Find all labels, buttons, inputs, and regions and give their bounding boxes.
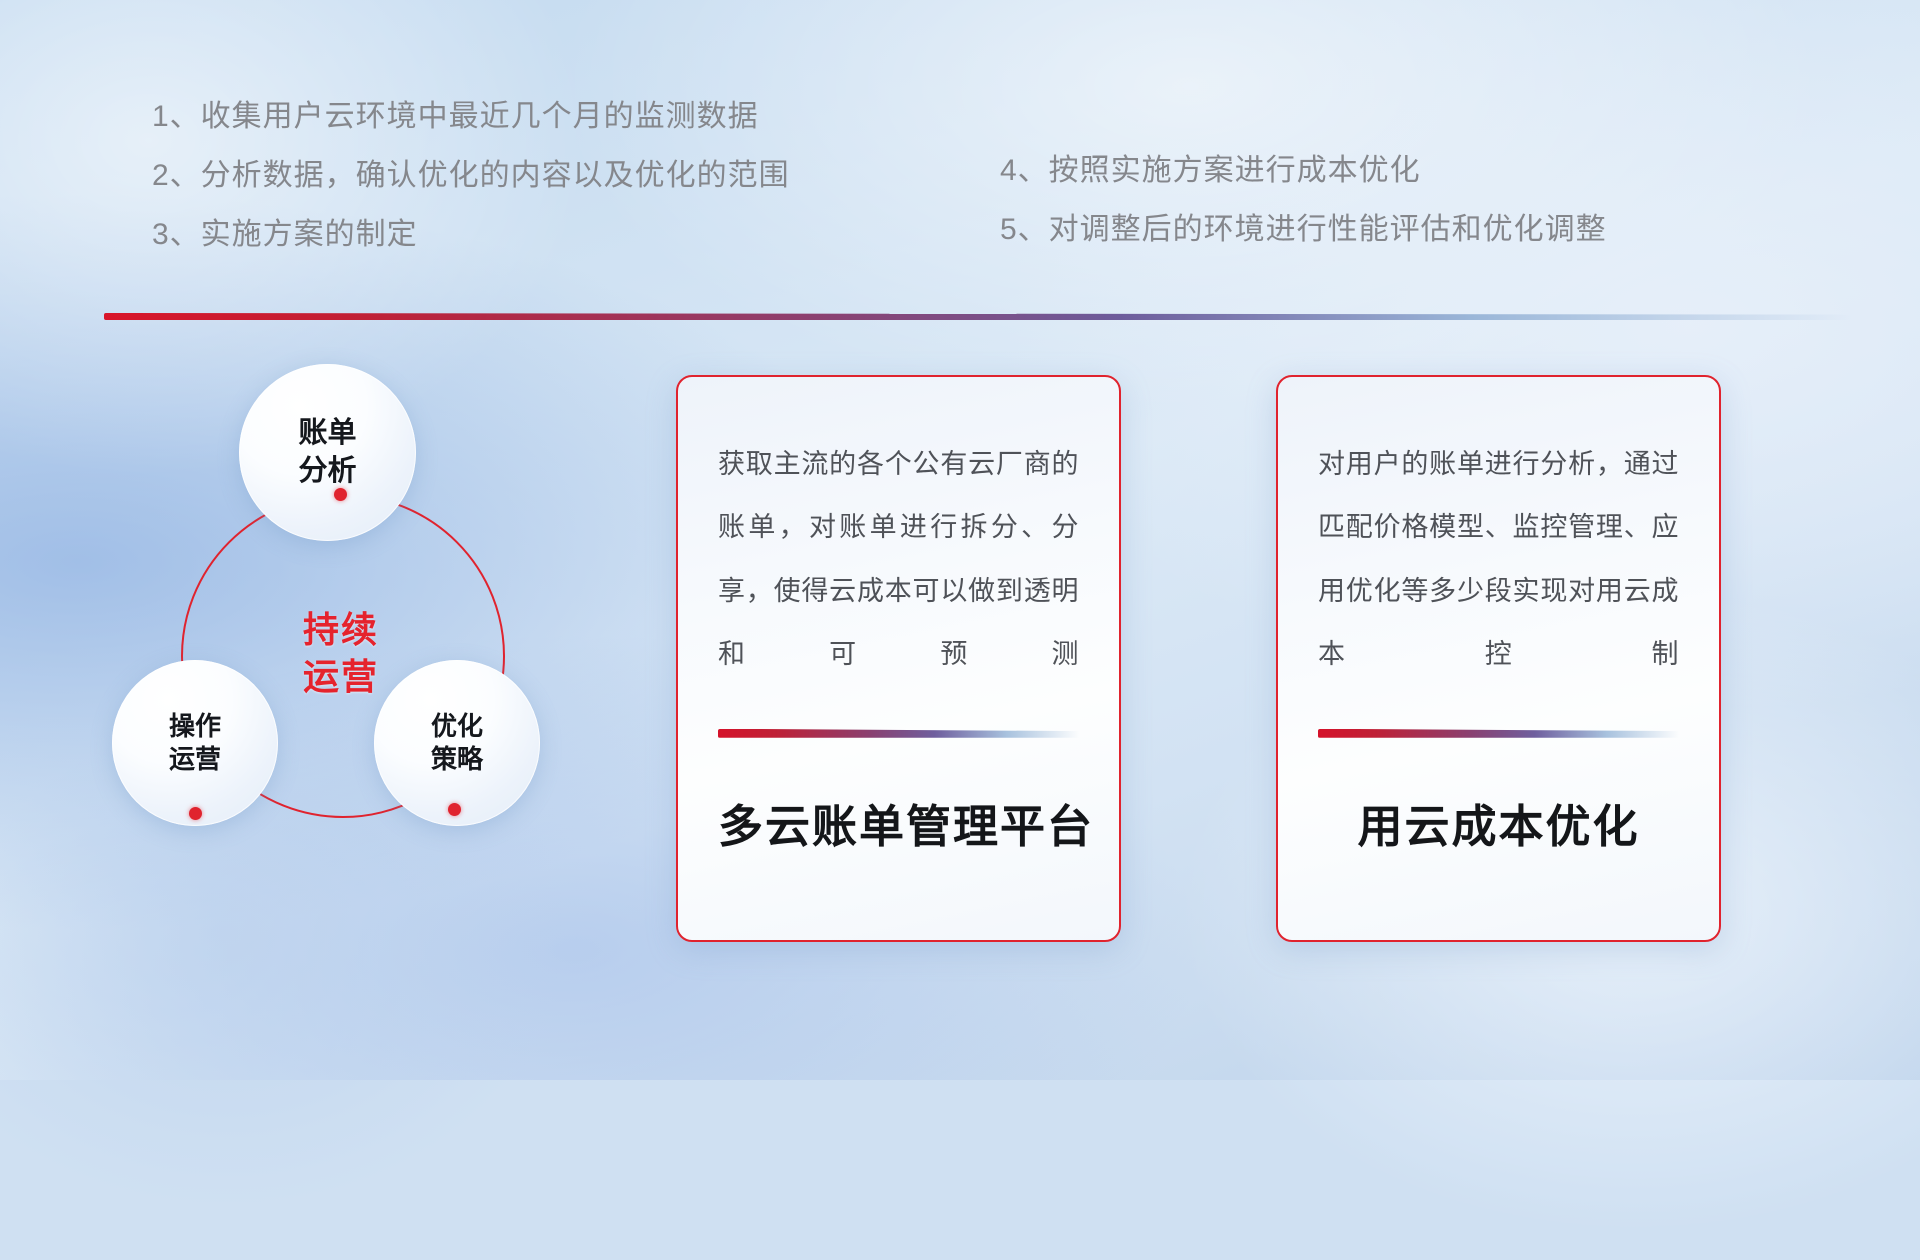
venn-node-dot-bottom-right [448, 803, 461, 816]
venn-node-dot-top [334, 488, 347, 501]
step-item-3: 3、实施方案的制定 [152, 220, 790, 250]
step-item-2: 2、分析数据，确认优化的内容以及优化的范围 [152, 161, 790, 191]
venn-bubble-bill-analysis-line1: 账单 [298, 415, 356, 452]
card-body-text: 获取主流的各个公有云厂商的账单，对账单进行拆分、分享，使得云成本可以做到透明和可… [718, 433, 1079, 687]
step-item-1: 1、收集用户云环境中最近几个月的监测数据 [152, 102, 790, 132]
card-divider-rule [718, 729, 1079, 738]
card-body-text: 对用户的账单进行分析，通过匹配价格模型、监控管理、应用优化等多少段实现对用云成本… [1318, 433, 1679, 687]
venn-diagram: 账单 分析 操作 运营 优化 策略 持续 运营 [100, 350, 660, 950]
steps-list-right: 4、按照实施方案进行成本优化 5、对调整后的环境进行性能评估和优化调整 [1000, 156, 1607, 274]
venn-center-label-line1: 持续 [303, 607, 379, 654]
card-title: 用云成本优化 [1318, 790, 1679, 855]
venn-center-label-line2: 运营 [303, 654, 379, 701]
section-divider-rule [104, 313, 1856, 320]
venn-bubble-bill-analysis-line2: 分析 [298, 453, 356, 490]
venn-center-label: 持续 运营 [181, 494, 501, 814]
steps-list-left: 1、收集用户云环境中最近几个月的监测数据 2、分析数据，确认优化的内容以及优化的… [152, 102, 790, 279]
venn-node-dot-bottom-left [189, 807, 202, 820]
card-title: 多云账单管理平台 [718, 790, 1079, 855]
card-multicloud-billing-platform[interactable]: 获取主流的各个公有云厂商的账单，对账单进行拆分、分享，使得云成本可以做到透明和可… [676, 375, 1121, 942]
card-divider-rule [1318, 729, 1679, 738]
slide-background: 1、收集用户云环境中最近几个月的监测数据 2、分析数据，确认优化的内容以及优化的… [0, 0, 1920, 1080]
step-item-5: 5、对调整后的环境进行性能评估和优化调整 [1000, 215, 1607, 245]
card-cloud-cost-optimization[interactable]: 对用户的账单进行分析，通过匹配价格模型、监控管理、应用优化等多少段实现对用云成本… [1276, 375, 1721, 942]
step-item-4: 4、按照实施方案进行成本优化 [1000, 156, 1607, 186]
